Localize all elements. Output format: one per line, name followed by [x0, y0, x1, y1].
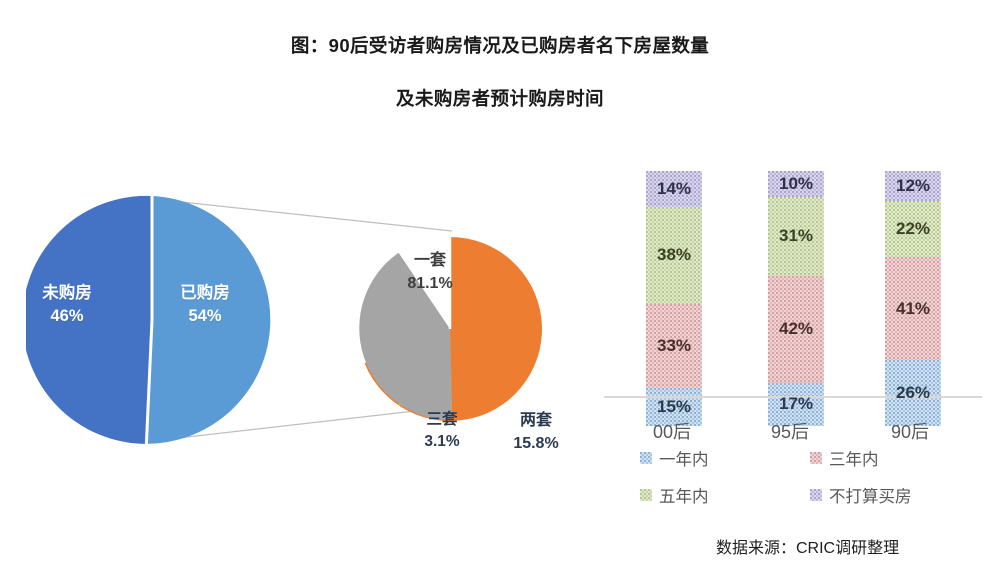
bar-value-label: 15%: [657, 397, 691, 417]
chart-page: 图：90后受访者购房情况及已购房者名下房屋数量 及未购房者预计购房时间 未购房 …: [0, 0, 1000, 580]
bar-value-label: 22%: [896, 219, 930, 239]
bar-chart-legend: 一年内 三年内 五年内 不打算买房: [640, 446, 988, 507]
legend-swatch-icon-within-1-year: [640, 452, 652, 464]
bar-segment-within-5-years: 31%: [768, 197, 824, 276]
pie-label-purchased: 已购房 54%: [162, 282, 248, 329]
bar-category-label-90hou: 90后: [862, 418, 958, 444]
legend-item-within-3-years: 三年内: [810, 446, 988, 470]
bar-segment-no-plan: 12%: [885, 171, 941, 201]
legend-label-within-1-year: 一年内: [659, 446, 709, 470]
bar-value-label: 41%: [896, 299, 930, 319]
pie-label-three-suite: 三套 3.1%: [404, 409, 480, 454]
bar-column-00hou: 14% 38% 33% 15%: [646, 171, 702, 426]
bar-segment-within-5-years: 38%: [646, 207, 702, 304]
pie-label-unpurchased: 未购房 46%: [24, 282, 110, 329]
pie-label-one-suite-name: 一套: [382, 249, 478, 272]
pie-label-two-suite-value: 15.8%: [488, 432, 584, 455]
chart-title-line-2: 及未购房者预计购房时间: [0, 85, 1000, 111]
bar-segment-within-3-years: 41%: [885, 257, 941, 361]
bar-segment-no-plan: 14%: [646, 171, 702, 207]
bar-value-label: 10%: [779, 174, 813, 194]
pie-label-purchased-name: 已购房: [162, 282, 248, 305]
pie-label-unpurchased-name: 未购房: [24, 282, 110, 305]
bar-value-label: 14%: [657, 179, 691, 199]
stacked-bar-chart: 14% 38% 33% 15% 10% 31% 42% 17%: [604, 126, 982, 426]
legend-swatch-icon-within-5-years: [640, 489, 652, 501]
bar-value-label: 33%: [657, 336, 691, 356]
pie-label-two-suite-name: 两套: [488, 409, 584, 432]
source-note: 数据来源：CRIC调研整理: [716, 534, 899, 558]
bar-segment-within-3-years: 33%: [646, 304, 702, 388]
bar-category-label-00hou: 00后: [624, 418, 720, 444]
legend-item-within-1-year: 一年内: [640, 446, 810, 470]
pie-label-one-suite-value: 81.1%: [382, 272, 478, 295]
bar-category-label-95hou: 95后: [742, 418, 838, 444]
legend-item-no-plan: 不打算买房: [810, 483, 988, 507]
legend-item-within-5-years: 五年内: [640, 483, 810, 507]
pie-label-two-suite: 两套 15.8%: [488, 409, 584, 455]
bar-value-label: 12%: [896, 176, 930, 196]
bar-value-label: 31%: [779, 226, 813, 246]
bar-column-90hou: 12% 22% 41% 26%: [885, 171, 941, 426]
legend-label-within-3-years: 三年内: [829, 446, 879, 470]
pie-label-purchased-value: 54%: [162, 305, 248, 328]
pie-label-one-suite: 一套 81.1%: [382, 249, 478, 295]
pie-label-three-suite-value: 3.1%: [404, 431, 480, 453]
bar-segment-within-5-years: 22%: [885, 201, 941, 257]
legend-label-within-5-years: 五年内: [659, 483, 709, 507]
pie-label-unpurchased-value: 46%: [24, 305, 110, 328]
bar-value-label: 17%: [779, 394, 813, 414]
bar-segment-within-3-years: 42%: [768, 276, 824, 383]
bar-segment-no-plan: 10%: [768, 171, 824, 197]
bar-value-label: 38%: [657, 245, 691, 265]
bar-value-label: 42%: [779, 319, 813, 339]
chart-title-line-1: 图：90后受访者购房情况及已购房者名下房屋数量: [0, 32, 1000, 58]
legend-swatch-icon-no-plan: [810, 489, 822, 501]
bar-column-95hou: 10% 31% 42% 17%: [768, 171, 824, 426]
bar-segment-within-1-year: 26%: [885, 360, 941, 426]
legend-swatch-icon-within-3-years: [810, 452, 822, 464]
bar-value-label: 26%: [896, 383, 930, 403]
pie-label-three-suite-name: 三套: [404, 409, 480, 431]
legend-label-no-plan: 不打算买房: [829, 483, 912, 507]
